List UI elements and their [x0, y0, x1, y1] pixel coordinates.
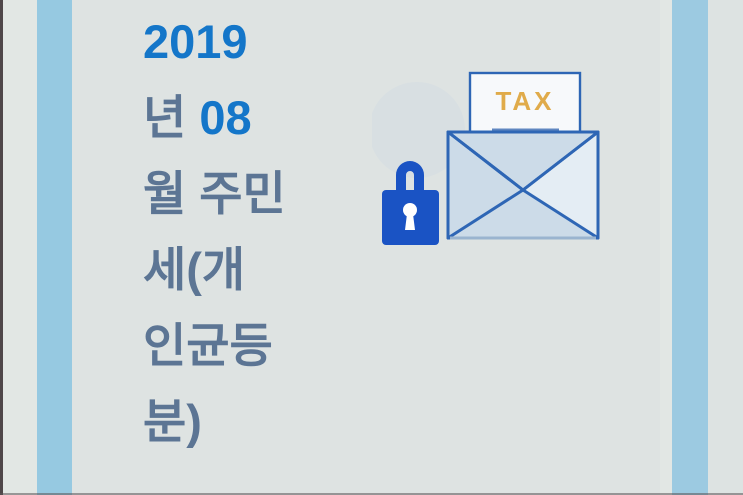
- left-blue-stripe: [37, 0, 72, 495]
- tax-document-label: TAX: [495, 86, 554, 116]
- title-line-4: 세(개: [143, 232, 353, 308]
- screenshot-canvas: 2019 년 08 월 주민 세(개 인균등 분) TAX: [0, 0, 743, 495]
- envelope: [448, 132, 598, 238]
- title-line-5: 인균등: [143, 308, 353, 384]
- right-pale-stripe: [660, 0, 672, 495]
- title-line-2: 년 08: [143, 80, 353, 156]
- title-line-3: 월 주민: [143, 156, 353, 232]
- left-pale-stripe: [3, 0, 37, 495]
- right-tail-stripe: [708, 0, 743, 495]
- title-token-month: 08: [199, 91, 251, 144]
- tax-envelope-lock-illustration: TAX: [372, 62, 634, 262]
- title-token-tax-name-b: 인균등: [143, 319, 273, 372]
- title-line-1: 2019: [143, 4, 353, 80]
- page-title: 2019 년 08 월 주민 세(개 인균등 분): [143, 4, 353, 460]
- title-token-tax-name-c: 분): [143, 395, 202, 448]
- title-line-6: 분): [143, 384, 353, 460]
- right-blue-stripe: [672, 0, 708, 495]
- title-token-month-suffix: 월 주민: [143, 167, 286, 220]
- title-token-tax-name-a: 세(개: [143, 243, 245, 296]
- title-token-year: 2019: [143, 15, 248, 68]
- title-token-year-suffix: 년: [143, 91, 199, 144]
